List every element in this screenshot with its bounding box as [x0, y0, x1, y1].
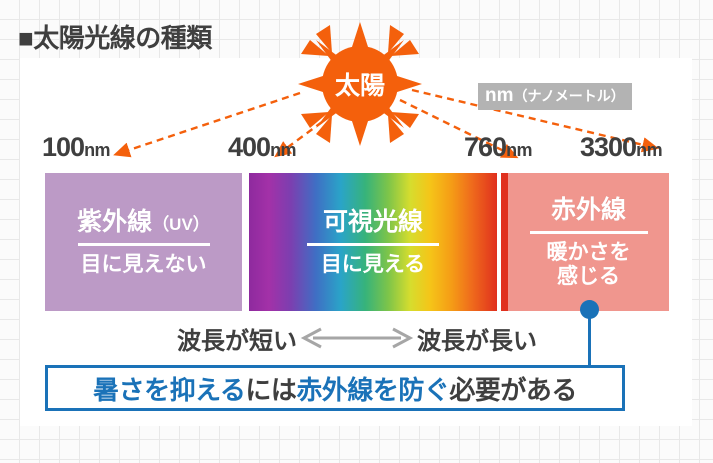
band-divider	[307, 243, 439, 246]
band-suffix: （UV）	[152, 215, 210, 234]
conclusion-text: 暑さを抑えるには赤外線を防ぐ必要がある	[93, 370, 577, 407]
band-divider	[530, 231, 648, 234]
conclusion-segment-3: 赤外線を防ぐ	[296, 375, 449, 405]
band-divider	[78, 243, 210, 246]
tick-unit: nm	[270, 140, 296, 160]
band-ultraviolet-desc: 目に見えない	[81, 253, 207, 277]
tick-number: 400	[228, 132, 270, 162]
band-visible-light-title: 可視光線	[323, 208, 423, 236]
band-infrared-desc-line2: 感じる	[557, 265, 620, 288]
tick-unit: nm	[506, 140, 532, 160]
wavelength-short-label: 波長が短い	[177, 321, 297, 356]
band-ultraviolet-title: 紫外線（UV）	[77, 208, 210, 236]
conclusion-segment-2: には	[245, 375, 296, 405]
band-infrared-desc-line1: 暖かさを	[547, 241, 631, 264]
conclusion-banner: 暑さを抑えるには赤外線を防ぐ必要がある	[45, 365, 625, 411]
wavelength-direction-row: 波長が短い 波長が長い	[45, 320, 669, 356]
band-visible-light: 可視光線 目に見える	[249, 173, 497, 311]
tick-label-3300nm: 3300nm	[580, 132, 662, 163]
tick-label-400nm: 400nm	[228, 132, 296, 163]
band-name: 可視光線	[323, 208, 423, 236]
band-name: 紫外線	[77, 208, 152, 236]
double-arrow-icon	[299, 327, 415, 349]
tick-label-100nm: 100nm	[42, 132, 110, 163]
infrared-connector-dot	[580, 300, 599, 319]
nm-legend-badge: nm（ナノメートル）	[478, 83, 632, 110]
sun-graphic: 太陽	[298, 22, 422, 146]
conclusion-segment-4: 必要がある	[449, 375, 577, 405]
band-name: 赤外線	[551, 196, 626, 224]
spectrum-band-row: 紫外線（UV） 目に見えない 可視光線 目に見える 赤外線 暖かさを感じる	[45, 173, 669, 311]
band-visible-light-desc: 目に見える	[321, 253, 425, 277]
band-infrared: 赤外線 暖かさを感じる	[501, 173, 669, 311]
band-infrared-desc: 暖かさを感じる	[547, 241, 631, 287]
wavelength-long-label: 波長が長い	[417, 321, 537, 356]
nm-unit-reading: （ナノメートル）	[514, 88, 625, 104]
tick-label-760nm: 760nm	[464, 132, 532, 163]
page-title: ■太陽光線の種類	[18, 18, 212, 55]
band-infrared-title: 赤外線	[551, 196, 626, 224]
nm-unit: nm	[485, 85, 514, 106]
tick-number: 760	[464, 132, 506, 162]
conclusion-segment-1: 暑さを抑える	[93, 375, 245, 405]
band-ultraviolet: 紫外線（UV） 目に見えない	[45, 173, 242, 311]
tick-number: 3300	[580, 132, 636, 162]
infographic-canvas: ■太陽光線の種類	[0, 0, 713, 463]
sun-icon	[298, 22, 422, 146]
tick-unit: nm	[636, 140, 662, 160]
tick-unit: nm	[84, 140, 110, 160]
tick-number: 100	[42, 132, 84, 162]
